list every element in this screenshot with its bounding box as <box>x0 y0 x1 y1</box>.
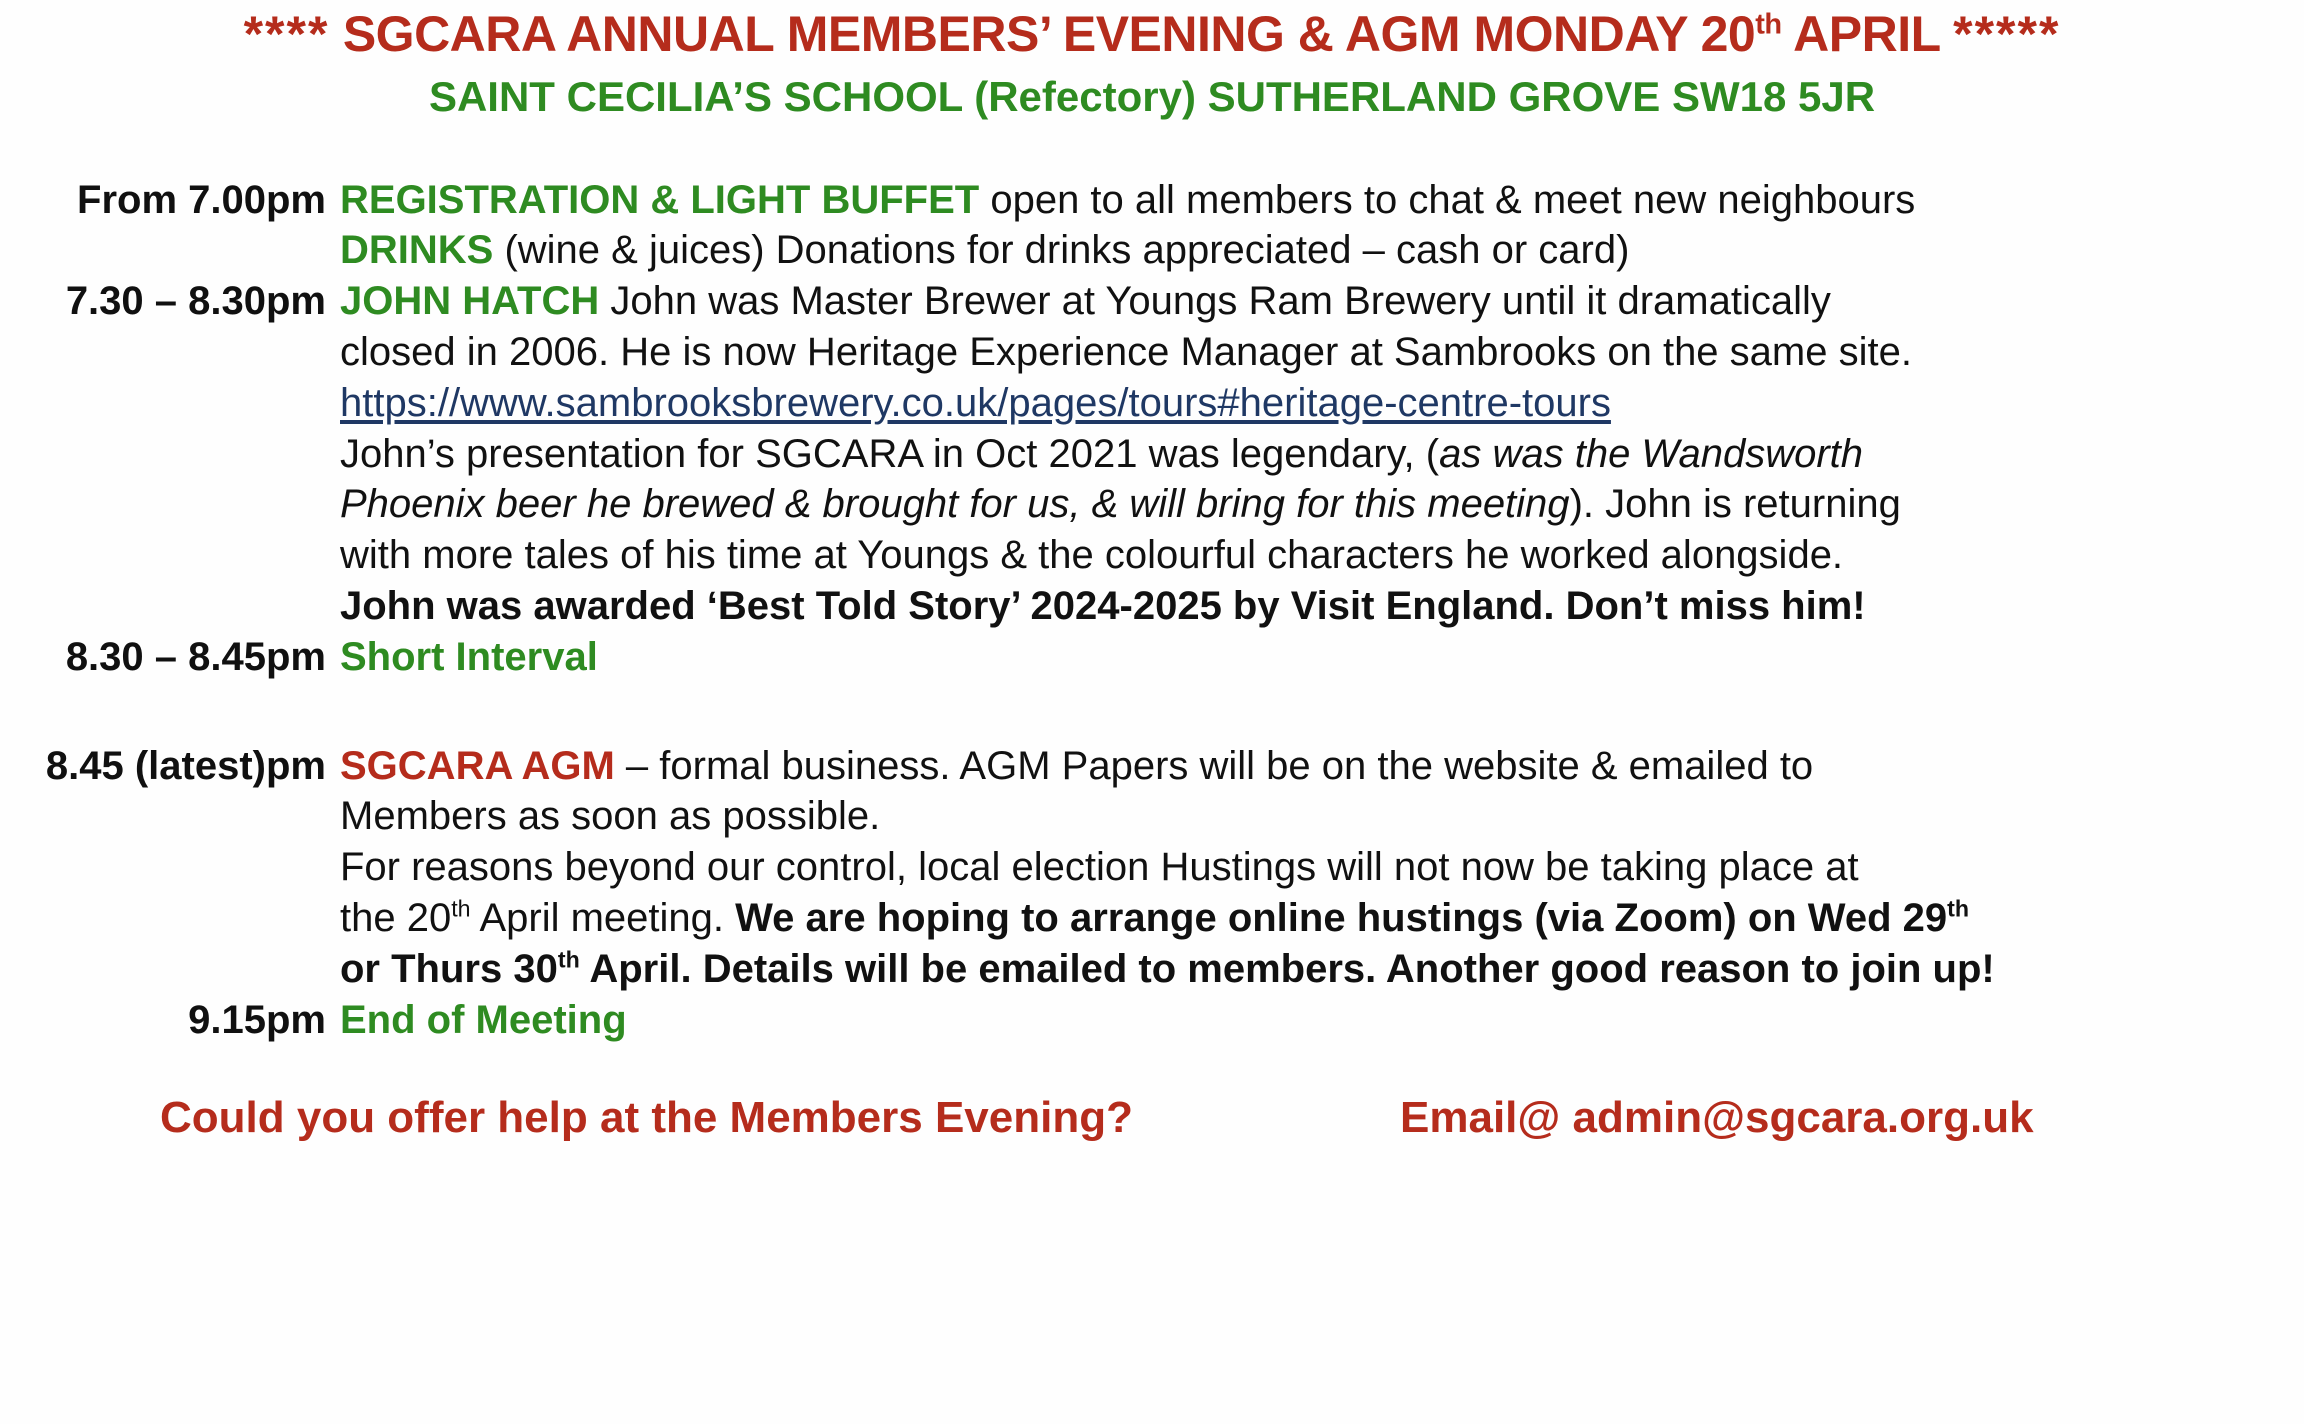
schedule-text-line: JOHN HATCH John was Master Brewer at You… <box>340 276 2304 327</box>
body-text: open to all members to chat & meet new n… <box>979 178 1915 222</box>
body-text: – formal business. AGM Papers will be on… <box>615 744 1813 788</box>
contact-email[interactable]: Email@ admin@sgcara.org.uk <box>1400 1093 2034 1143</box>
external-link[interactable]: https://www.sambrooksbrewery.co.uk/pages… <box>340 381 1611 425</box>
emphasis-bold: April. Details will be emailed to member… <box>580 947 1995 991</box>
emphasis-bold: or Thurs 30 <box>340 947 558 991</box>
schedule-text-line: End of Meeting <box>340 995 2304 1046</box>
emphasis-bold: John was awarded ‘Best Told Story’ 2024-… <box>340 584 1866 628</box>
emphasis-italic: Phoenix beer he brewed & brought for us,… <box>340 482 1570 526</box>
schedule-text-line: For reasons beyond our control, local el… <box>340 842 2304 893</box>
flyer-header: **** SGCARA ANNUAL MEMBERS’ EVENING & AG… <box>0 0 2304 119</box>
schedule-row-continuation: 7.30 – 8.30pmJohn’s presentation for SGC… <box>0 429 2304 480</box>
event-title-line: **** SGCARA ANNUAL MEMBERS’ EVENING & AG… <box>0 8 2304 61</box>
highlight-green: DRINKS <box>340 228 493 272</box>
stars-left: **** <box>244 6 330 62</box>
body-text: with more tales of his time at Youngs & … <box>340 533 1843 577</box>
schedule-text-line: Short Interval <box>340 632 2304 683</box>
body-text: (wine & juices) Donations for drinks app… <box>493 228 1629 272</box>
schedule-text-line: SGCARA AGM – formal business. AGM Papers… <box>340 741 2304 792</box>
schedule-text-line: or Thurs 30th April. Details will be ema… <box>340 944 2304 995</box>
help-question: Could you offer help at the Members Even… <box>160 1093 1400 1143</box>
event-title-ordinal-suffix: th <box>1755 8 1781 40</box>
schedule-row: 9.15pmEnd of Meeting <box>0 995 2304 1046</box>
emphasis-italic: as was the Wandsworth <box>1439 432 1863 476</box>
body-text: April meeting. <box>471 896 736 940</box>
body-text: the 20 <box>340 896 451 940</box>
schedule-row: 8.45 (latest)pmSGCARA AGM – formal busin… <box>0 741 2304 792</box>
schedule-list: From 7.00pmREGISTRATION & LIGHT BUFFET o… <box>0 175 2304 1046</box>
schedule-text-line: Phoenix beer he brewed & brought for us,… <box>340 479 2304 530</box>
schedule-time: From 7.00pm <box>0 175 340 226</box>
highlight-green: REGISTRATION & LIGHT BUFFET <box>340 178 979 222</box>
body-text: Members as soon as possible. <box>340 794 880 838</box>
schedule-row-continuation: From 7.00pmDRINKS (wine & juices) Donati… <box>0 225 2304 276</box>
ordinal-suffix: th <box>1947 896 1969 922</box>
highlight-green: End of Meeting <box>340 998 627 1042</box>
highlight-red: SGCARA AGM <box>340 744 615 788</box>
schedule-row-continuation: 7.30 – 8.30pmhttps://www.sambrooksbrewer… <box>0 378 2304 429</box>
body-text: ). John is returning <box>1570 482 1901 526</box>
schedule-time: 9.15pm <box>0 995 340 1046</box>
schedule-time: 7.30 – 8.30pm <box>0 276 340 327</box>
venue-line: SAINT CECILIA’S SCHOOL (Refectory) SUTHE… <box>0 75 2304 119</box>
schedule-row-continuation: 8.45 (latest)pmFor reasons beyond our co… <box>0 842 2304 893</box>
schedule-row-continuation: 7.30 – 8.30pmclosed in 2006. He is now H… <box>0 327 2304 378</box>
body-text: John was Master Brewer at Youngs Ram Bre… <box>599 279 1831 323</box>
schedule-row: 8.30 – 8.45pmShort Interval <box>0 632 2304 683</box>
ordinal-suffix: th <box>558 946 580 972</box>
body-text: John’s presentation for SGCARA in Oct 20… <box>340 432 1439 476</box>
schedule-text-line: REGISTRATION & LIGHT BUFFET open to all … <box>340 175 2304 226</box>
flyer-footer: Could you offer help at the Members Even… <box>0 1093 2304 1143</box>
schedule-text-line: with more tales of his time at Youngs & … <box>340 530 2304 581</box>
highlight-green: Short Interval <box>340 635 598 679</box>
schedule-row: From 7.00pmREGISTRATION & LIGHT BUFFET o… <box>0 175 2304 226</box>
schedule-row: 7.30 – 8.30pmJOHN HATCH John was Master … <box>0 276 2304 327</box>
schedule-row-continuation: 7.30 – 8.30pmPhoenix beer he brewed & br… <box>0 479 2304 530</box>
schedule-row-continuation: 8.45 (latest)pmMembers as soon as possib… <box>0 791 2304 842</box>
schedule-time: 8.45 (latest)pm <box>0 741 340 792</box>
schedule-row-continuation: 7.30 – 8.30pmJohn was awarded ‘Best Told… <box>0 581 2304 632</box>
stars-right: ***** <box>1953 6 2060 62</box>
schedule-text-line: Members as soon as possible. <box>340 791 2304 842</box>
event-title-main: SGCARA ANNUAL MEMBERS’ EVENING & AGM MON… <box>343 6 1755 62</box>
body-text: closed in 2006. He is now Heritage Exper… <box>340 330 1912 374</box>
schedule-row-continuation: 7.30 – 8.30pmwith more tales of his time… <box>0 530 2304 581</box>
schedule-text-line: https://www.sambrooksbrewery.co.uk/pages… <box>340 378 2304 429</box>
schedule-row-continuation: 8.45 (latest)pmor Thurs 30th April. Deta… <box>0 944 2304 995</box>
event-title-tail: APRIL <box>1782 6 1954 62</box>
schedule-text-line: John’s presentation for SGCARA in Oct 20… <box>340 429 2304 480</box>
ordinal-suffix: th <box>451 896 470 922</box>
body-text: For reasons beyond our control, local el… <box>340 845 1859 889</box>
schedule-text-line: DRINKS (wine & juices) Donations for dri… <box>340 225 2304 276</box>
schedule-text-line: John was awarded ‘Best Told Story’ 2024-… <box>340 581 2304 632</box>
highlight-green: JOHN HATCH <box>340 279 599 323</box>
schedule-row-continuation: 8.45 (latest)pmthe 20th April meeting. W… <box>0 893 2304 944</box>
schedule-text-line: the 20th April meeting. We are hoping to… <box>340 893 2304 944</box>
emphasis-bold: We are hoping to arrange online hustings… <box>735 896 1947 940</box>
section-spacer <box>0 683 2304 741</box>
schedule-time: 8.30 – 8.45pm <box>0 632 340 683</box>
schedule-text-line: closed in 2006. He is now Heritage Exper… <box>340 327 2304 378</box>
flyer-page: **** SGCARA ANNUAL MEMBERS’ EVENING & AG… <box>0 0 2304 1424</box>
